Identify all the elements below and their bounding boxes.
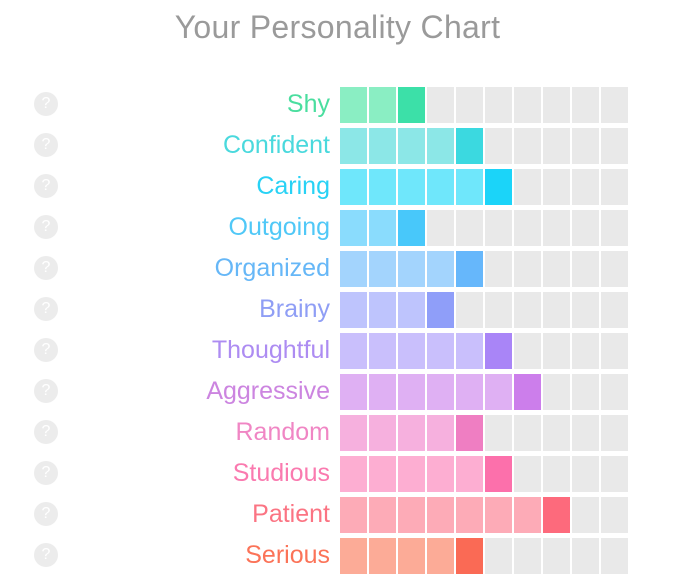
meter-cell-filled[interactable] xyxy=(427,333,454,369)
meter-cell-filled[interactable] xyxy=(427,169,454,205)
meter-cell-active[interactable] xyxy=(398,87,425,123)
meter-cell-filled[interactable] xyxy=(427,456,454,492)
meter-cell-filled[interactable] xyxy=(369,374,396,410)
meter-cell-filled[interactable] xyxy=(369,128,396,164)
meter-cell-filled[interactable] xyxy=(427,538,454,574)
meter-cell-filled[interactable] xyxy=(398,456,425,492)
meter-cell-empty[interactable] xyxy=(456,292,483,328)
trait-meter-random[interactable] xyxy=(340,415,628,451)
meter-cell-filled[interactable] xyxy=(427,497,454,533)
meter-cell-empty[interactable] xyxy=(427,87,454,123)
meter-cell-empty[interactable] xyxy=(572,538,599,574)
chart-row: ?Shy xyxy=(0,84,675,125)
meter-cell-filled[interactable] xyxy=(456,497,483,533)
chart-row: ?Organized xyxy=(0,248,675,289)
meter-cell-filled[interactable] xyxy=(398,497,425,533)
meter-cell-filled[interactable] xyxy=(340,538,367,574)
meter-cell-filled[interactable] xyxy=(369,415,396,451)
meter-cell-empty[interactable] xyxy=(543,87,570,123)
meter-cell-empty[interactable] xyxy=(601,292,628,328)
trait-label-brainy: Brainy xyxy=(259,289,330,330)
chart-row: ?Thoughtful xyxy=(0,330,675,371)
meter-cell-filled[interactable] xyxy=(427,374,454,410)
meter-cell-empty[interactable] xyxy=(572,456,599,492)
meter-cell-empty[interactable] xyxy=(572,415,599,451)
meter-cell-empty[interactable] xyxy=(601,333,628,369)
meter-cell-active[interactable] xyxy=(543,497,570,533)
meter-cell-filled[interactable] xyxy=(369,210,396,246)
meter-cell-empty[interactable] xyxy=(543,169,570,205)
meter-cell-filled[interactable] xyxy=(398,251,425,287)
meter-cell-empty[interactable] xyxy=(601,128,628,164)
chart-row: ?Serious xyxy=(0,535,675,576)
trait-meter-brainy[interactable] xyxy=(340,292,628,328)
trait-meter-shy[interactable] xyxy=(340,87,628,123)
meter-cell-filled[interactable] xyxy=(456,374,483,410)
meter-cell-empty[interactable] xyxy=(572,333,599,369)
meter-cell-empty[interactable] xyxy=(485,210,512,246)
chart-row: ?Random xyxy=(0,412,675,453)
meter-cell-filled[interactable] xyxy=(369,333,396,369)
trait-label-thoughtful: Thoughtful xyxy=(212,330,330,371)
meter-cell-empty[interactable] xyxy=(456,210,483,246)
trait-label-aggressive: Aggressive xyxy=(206,371,330,412)
meter-cell-empty[interactable] xyxy=(601,415,628,451)
meter-cell-empty[interactable] xyxy=(514,333,541,369)
meter-cell-filled[interactable] xyxy=(369,497,396,533)
meter-cell-filled[interactable] xyxy=(398,374,425,410)
meter-cell-empty[interactable] xyxy=(543,333,570,369)
trait-label-patient: Patient xyxy=(252,494,330,535)
meter-cell-filled[interactable] xyxy=(369,538,396,574)
meter-cell-filled[interactable] xyxy=(427,415,454,451)
meter-cell-filled[interactable] xyxy=(398,415,425,451)
meter-cell-empty[interactable] xyxy=(485,251,512,287)
chart-row: ?Patient xyxy=(0,494,675,535)
meter-cell-empty[interactable] xyxy=(485,87,512,123)
meter-cell-empty[interactable] xyxy=(572,210,599,246)
trait-label-organized: Organized xyxy=(215,248,330,289)
meter-cell-filled[interactable] xyxy=(340,333,367,369)
meter-cell-filled[interactable] xyxy=(340,456,367,492)
meter-cell-empty[interactable] xyxy=(485,292,512,328)
meter-cell-filled[interactable] xyxy=(514,497,541,533)
trait-meter-caring[interactable] xyxy=(340,169,628,205)
trait-label-caring: Caring xyxy=(256,166,330,207)
meter-cell-empty[interactable] xyxy=(601,497,628,533)
meter-cell-empty[interactable] xyxy=(543,292,570,328)
meter-cell-empty[interactable] xyxy=(572,128,599,164)
meter-cell-active[interactable] xyxy=(398,210,425,246)
meter-cell-empty[interactable] xyxy=(543,251,570,287)
meter-cell-active[interactable] xyxy=(456,415,483,451)
meter-cell-empty[interactable] xyxy=(514,292,541,328)
meter-cell-empty[interactable] xyxy=(543,415,570,451)
chart-row: ?Aggressive xyxy=(0,371,675,412)
meter-cell-filled[interactable] xyxy=(340,169,367,205)
meter-cell-filled[interactable] xyxy=(340,128,367,164)
trait-meter-organized[interactable] xyxy=(340,251,628,287)
question-mark-icon[interactable]: ? xyxy=(34,133,58,157)
meter-cell-empty[interactable] xyxy=(601,456,628,492)
meter-cell-active[interactable] xyxy=(456,538,483,574)
meter-cell-filled[interactable] xyxy=(398,538,425,574)
trait-label-shy: Shy xyxy=(287,84,330,125)
meter-cell-empty[interactable] xyxy=(485,128,512,164)
trait-meter-aggressive[interactable] xyxy=(340,374,628,410)
trait-meter-serious[interactable] xyxy=(340,538,628,574)
chart-row: ?Outgoing xyxy=(0,207,675,248)
page-title: Your Personality Chart xyxy=(0,9,675,46)
meter-cell-active[interactable] xyxy=(427,292,454,328)
meter-cell-filled[interactable] xyxy=(456,333,483,369)
question-mark-icon[interactable]: ? xyxy=(34,338,58,362)
meter-cell-filled[interactable] xyxy=(340,210,367,246)
meter-cell-empty[interactable] xyxy=(543,374,570,410)
meter-cell-empty[interactable] xyxy=(514,169,541,205)
trait-meter-confident[interactable] xyxy=(340,128,628,164)
meter-cell-empty[interactable] xyxy=(514,87,541,123)
meter-cell-empty[interactable] xyxy=(572,169,599,205)
meter-cell-empty[interactable] xyxy=(572,497,599,533)
meter-cell-filled[interactable] xyxy=(369,169,396,205)
meter-cell-empty[interactable] xyxy=(543,456,570,492)
trait-meter-thoughtful[interactable] xyxy=(340,333,628,369)
chart-rows-container: ?Shy?Confident?Caring?Outgoing?Organized… xyxy=(0,84,675,576)
chart-row: ?Confident xyxy=(0,125,675,166)
question-mark-icon[interactable]: ? xyxy=(34,297,58,321)
meter-cell-empty[interactable] xyxy=(601,87,628,123)
meter-cell-active[interactable] xyxy=(456,251,483,287)
meter-cell-empty[interactable] xyxy=(543,538,570,574)
meter-cell-empty[interactable] xyxy=(572,292,599,328)
question-mark-icon[interactable]: ? xyxy=(34,92,58,116)
trait-meter-studious[interactable] xyxy=(340,456,628,492)
meter-cell-empty[interactable] xyxy=(543,210,570,246)
chart-row: ?Studious xyxy=(0,453,675,494)
meter-cell-active[interactable] xyxy=(485,333,512,369)
chart-row: ?Brainy xyxy=(0,289,675,330)
question-mark-icon[interactable]: ? xyxy=(34,461,58,485)
meter-cell-filled[interactable] xyxy=(398,128,425,164)
meter-cell-filled[interactable] xyxy=(340,374,367,410)
trait-meter-patient[interactable] xyxy=(340,497,628,533)
meter-cell-empty[interactable] xyxy=(514,538,541,574)
question-mark-icon[interactable]: ? xyxy=(34,502,58,526)
meter-cell-filled[interactable] xyxy=(485,497,512,533)
trait-label-outgoing: Outgoing xyxy=(229,207,330,248)
meter-cell-active[interactable] xyxy=(485,169,512,205)
meter-cell-empty[interactable] xyxy=(485,538,512,574)
meter-cell-empty[interactable] xyxy=(514,456,541,492)
meter-cell-filled[interactable] xyxy=(369,292,396,328)
meter-cell-filled[interactable] xyxy=(340,292,367,328)
trait-label-studious: Studious xyxy=(233,453,330,494)
meter-cell-empty[interactable] xyxy=(456,87,483,123)
meter-cell-filled[interactable] xyxy=(398,292,425,328)
meter-cell-empty[interactable] xyxy=(601,169,628,205)
meter-cell-active[interactable] xyxy=(514,374,541,410)
meter-cell-filled[interactable] xyxy=(340,497,367,533)
meter-cell-empty[interactable] xyxy=(601,538,628,574)
meter-cell-empty[interactable] xyxy=(601,210,628,246)
question-mark-icon[interactable]: ? xyxy=(34,256,58,280)
question-mark-icon[interactable]: ? xyxy=(34,543,58,567)
meter-cell-filled[interactable] xyxy=(456,169,483,205)
meter-cell-filled[interactable] xyxy=(485,374,512,410)
trait-label-serious: Serious xyxy=(245,535,330,576)
meter-cell-empty[interactable] xyxy=(514,128,541,164)
meter-cell-empty[interactable] xyxy=(601,374,628,410)
meter-cell-empty[interactable] xyxy=(514,251,541,287)
question-mark-icon[interactable]: ? xyxy=(34,174,58,198)
meter-cell-filled[interactable] xyxy=(340,87,367,123)
meter-cell-active[interactable] xyxy=(485,456,512,492)
question-mark-icon[interactable]: ? xyxy=(34,215,58,239)
meter-cell-empty[interactable] xyxy=(572,251,599,287)
meter-cell-active[interactable] xyxy=(456,128,483,164)
meter-cell-empty[interactable] xyxy=(485,415,512,451)
personality-chart-page: Your Personality Chart ?Shy?Confident?Ca… xyxy=(0,0,675,582)
meter-cell-empty[interactable] xyxy=(514,415,541,451)
meter-cell-filled[interactable] xyxy=(398,169,425,205)
meter-cell-filled[interactable] xyxy=(398,333,425,369)
meter-cell-filled[interactable] xyxy=(369,251,396,287)
meter-cell-empty[interactable] xyxy=(543,128,570,164)
chart-row: ?Caring xyxy=(0,166,675,207)
trait-meter-outgoing[interactable] xyxy=(340,210,628,246)
meter-cell-filled[interactable] xyxy=(427,128,454,164)
trait-label-confident: Confident xyxy=(223,125,330,166)
meter-cell-filled[interactable] xyxy=(456,456,483,492)
meter-cell-filled[interactable] xyxy=(369,87,396,123)
meter-cell-empty[interactable] xyxy=(514,210,541,246)
meter-cell-filled[interactable] xyxy=(340,415,367,451)
trait-label-random: Random xyxy=(236,412,331,453)
meter-cell-filled[interactable] xyxy=(427,251,454,287)
meter-cell-empty[interactable] xyxy=(427,210,454,246)
meter-cell-empty[interactable] xyxy=(601,251,628,287)
meter-cell-filled[interactable] xyxy=(340,251,367,287)
meter-cell-empty[interactable] xyxy=(572,87,599,123)
meter-cell-empty[interactable] xyxy=(572,374,599,410)
question-mark-icon[interactable]: ? xyxy=(34,420,58,444)
meter-cell-filled[interactable] xyxy=(369,456,396,492)
question-mark-icon[interactable]: ? xyxy=(34,379,58,403)
